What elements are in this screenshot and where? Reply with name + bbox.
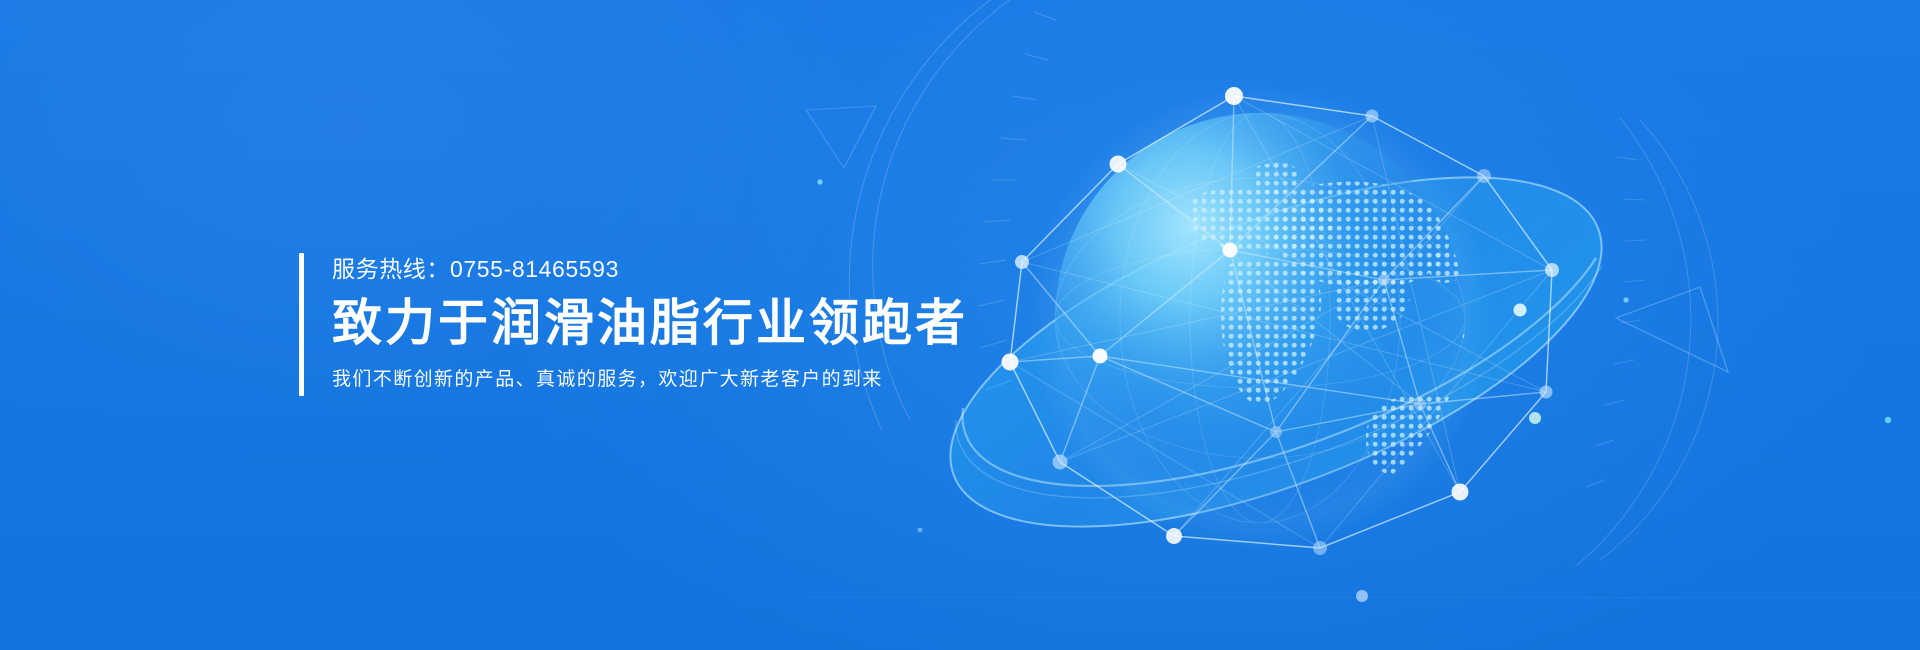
hero-text-block: 服务热线：0755-81465593 致力于润滑油脂行业领跑者 我们不断创新的产…	[299, 253, 968, 396]
accent-bar	[299, 253, 304, 396]
wire-triangle-icon	[1616, 287, 1728, 372]
wire-triangle-icon	[806, 106, 876, 168]
hotline-text: 服务热线：0755-81465593	[332, 255, 968, 284]
arc-ticks-icon	[1576, 118, 1718, 566]
subtitle-text: 我们不断创新的产品、真诚的服务，欢迎广大新老客户的到来	[332, 368, 968, 393]
page-title: 致力于润滑油脂行业领跑者	[332, 293, 968, 354]
hero-banner: 服务热线：0755-81465593 致力于润滑油脂行业领跑者 我们不断创新的产…	[0, 0, 1920, 650]
